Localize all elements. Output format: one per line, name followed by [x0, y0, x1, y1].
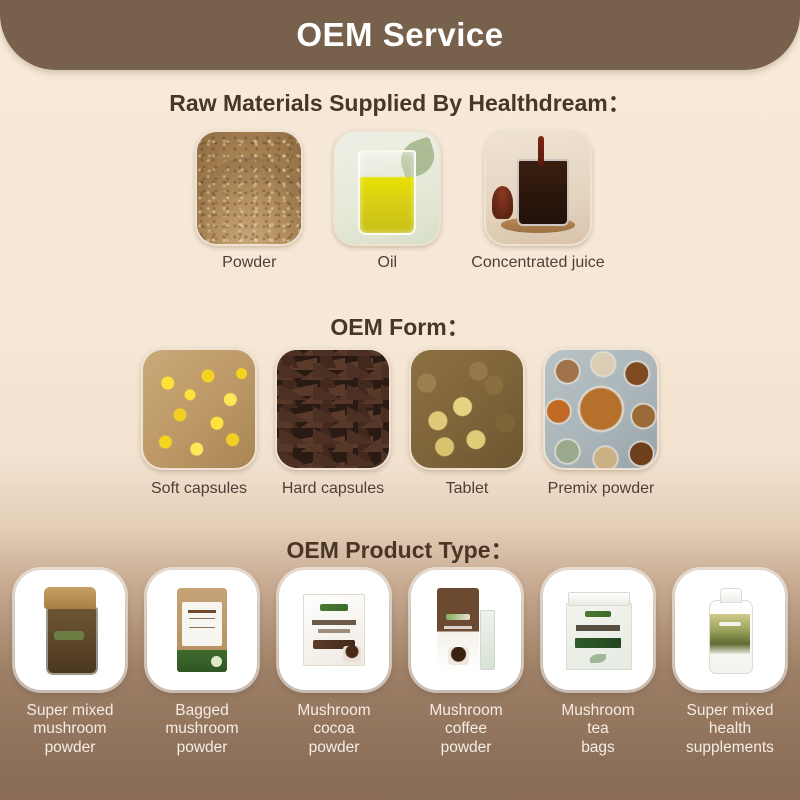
section-title-oem-form: OEM Form： — [0, 308, 800, 342]
page-title: OEM Service — [296, 16, 503, 54]
product-item[interactable]: Baggedmushroompowder — [140, 570, 264, 757]
oem-form-item[interactable]: Hard capsules — [275, 348, 391, 498]
product-label: Mushroomteabags — [561, 702, 634, 757]
premix-powder-image — [543, 348, 659, 470]
raw-materials-row: Powder Oil Concentrated juice — [0, 130, 800, 272]
tablet-image — [409, 348, 525, 470]
oem-form-label: Hard capsules — [282, 480, 384, 498]
product-label: Super mixedhealthsupplements — [686, 702, 774, 757]
concentrated-juice-image — [484, 130, 592, 246]
oil-beaker-image — [333, 130, 441, 246]
oem-service-infographic: OEM Service Raw Materials Supplied By He… — [0, 0, 800, 800]
section-title-oem-product-type: OEM Product Type： — [0, 531, 800, 565]
mushroom-powder-pouch-image — [147, 570, 257, 690]
product-item[interactable]: Mushroomteabags — [536, 570, 660, 757]
oem-form-label: Premix powder — [548, 480, 655, 498]
hard-capsules-image — [275, 348, 391, 470]
supplement-bottle-image — [675, 570, 785, 690]
product-label: Mushroomcoffeepowder — [429, 702, 502, 757]
header-banner: OEM Service — [0, 0, 800, 70]
section-title-raw-materials: Raw Materials Supplied By Healthdream： — [0, 84, 800, 118]
mushroom-coffee-pouch-image — [411, 570, 521, 690]
mushroom-tea-box-image — [543, 570, 653, 690]
oem-form-label: Soft capsules — [151, 480, 247, 498]
raw-material-item[interactable]: Oil — [333, 130, 441, 272]
oem-form-item[interactable]: Premix powder — [543, 348, 659, 498]
oem-form-item[interactable]: Soft capsules — [141, 348, 257, 498]
product-item[interactable]: Super mixedhealthsupplements — [668, 570, 792, 757]
powder-image — [195, 130, 303, 246]
oem-form-label: Tablet — [446, 480, 489, 498]
raw-material-item[interactable]: Powder — [195, 130, 303, 272]
mushroom-powder-jar-image — [15, 570, 125, 690]
raw-material-label: Concentrated juice — [471, 254, 604, 272]
soft-capsules-image — [141, 348, 257, 470]
product-item[interactable]: Super mixedmushroompowder — [8, 570, 132, 757]
product-label: Baggedmushroompowder — [165, 702, 238, 757]
raw-material-item[interactable]: Concentrated juice — [471, 130, 604, 272]
raw-material-label: Powder — [222, 254, 276, 272]
oem-form-item[interactable]: Tablet — [409, 348, 525, 498]
product-item[interactable]: Mushroomcocoapowder — [272, 570, 396, 757]
oem-form-row: Soft capsules Hard capsules Tablet Premi… — [0, 348, 800, 498]
product-item[interactable]: Mushroomcoffeepowder — [404, 570, 528, 757]
mushroom-cacao-box-image — [279, 570, 389, 690]
product-label: Mushroomcocoapowder — [297, 702, 370, 757]
oem-product-type-row: Super mixedmushroompowder Baggedmushroom… — [0, 570, 800, 757]
raw-material-label: Oil — [378, 254, 398, 272]
product-label: Super mixedmushroompowder — [26, 702, 113, 757]
